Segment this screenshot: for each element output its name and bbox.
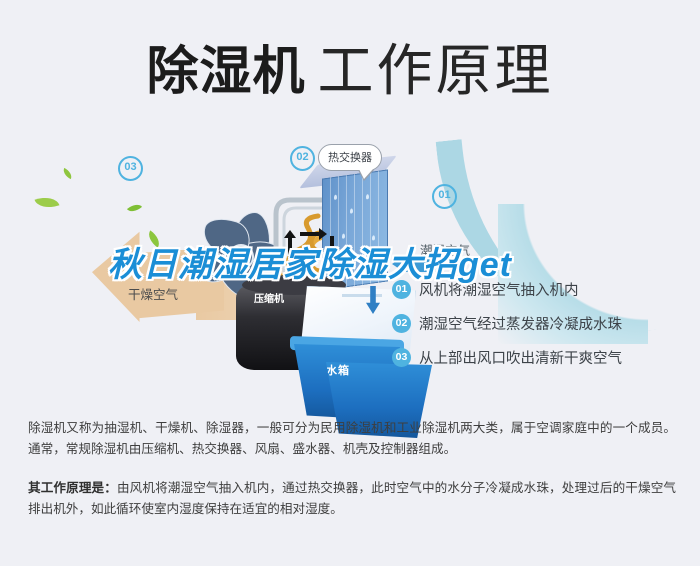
- step-text: 从上部出风口吹出清新干爽空气: [419, 347, 622, 368]
- page-title-secondary: 工作原理: [318, 39, 554, 102]
- moist-air-label: 潮湿空气: [420, 240, 470, 259]
- page-title: 除湿机工作原理: [0, 26, 700, 107]
- flow-arrow-down-icon: [330, 236, 334, 258]
- paragraph-one: 除湿机又称为抽湿机、干燥机、除湿器，一般可分为民用除湿机和工业除湿机两大类，属于…: [28, 418, 676, 460]
- paragraph-two-lead: 其工作原理是：: [28, 481, 117, 495]
- step-badge: 02: [392, 314, 411, 333]
- infographic-page: 除湿机工作原理: [0, 0, 700, 566]
- heat-exchanger-label: 热交换器: [328, 152, 372, 164]
- evaporator-block-icon: [322, 169, 388, 290]
- list-item: 02 潮湿空气经过蒸发器冷凝成水珠: [392, 306, 692, 340]
- step-text: 潮湿空气经过蒸发器冷凝成水珠: [419, 313, 622, 334]
- list-item: 03 从上部出风口吹出清新干爽空气: [392, 340, 692, 374]
- body-copy: 除湿机又称为抽湿机、干燥机、除湿器，一般可分为民用除湿机和工业除湿机两大类，属于…: [28, 418, 676, 524]
- step-badge: 03: [392, 348, 411, 367]
- heat-exchanger-callout: 热交换器: [318, 144, 382, 171]
- flow-arrow-right-icon: [300, 232, 320, 236]
- step-badge: 01: [392, 280, 411, 299]
- compressor-label: 压缩机: [254, 290, 284, 305]
- step-text: 风机将潮湿空气抽入机内: [419, 279, 579, 300]
- step-list: 01 风机将潮湿空气抽入机内 02 潮湿空气经过蒸发器冷凝成水珠 03 从上部出…: [392, 272, 692, 374]
- leaf-icon: [35, 193, 60, 212]
- shell-vent: [342, 294, 382, 297]
- diagram-badge-02: 02: [290, 146, 315, 171]
- dry-air-label: 干燥空气: [128, 284, 178, 303]
- page-title-primary: 除湿机: [146, 43, 305, 101]
- leaf-icon: [145, 230, 164, 247]
- leaf-icon: [61, 168, 74, 179]
- diagram-badge-03: 03: [118, 156, 143, 181]
- flow-arrow-up-icon: [288, 238, 292, 260]
- paragraph-two-rest: 由风机将潮湿空气抽入机内，通过热交换器，此时空气中的水分子冷凝成水珠，处理过后的…: [28, 481, 676, 516]
- paragraph-two: 其工作原理是：由风机将潮湿空气抽入机内，通过热交换器，此时空气中的水分子冷凝成水…: [28, 478, 676, 520]
- diagram-badge-01: 01: [432, 184, 457, 209]
- leaf-icon: [127, 201, 142, 215]
- list-item: 01 风机将潮湿空气抽入机内: [392, 272, 692, 306]
